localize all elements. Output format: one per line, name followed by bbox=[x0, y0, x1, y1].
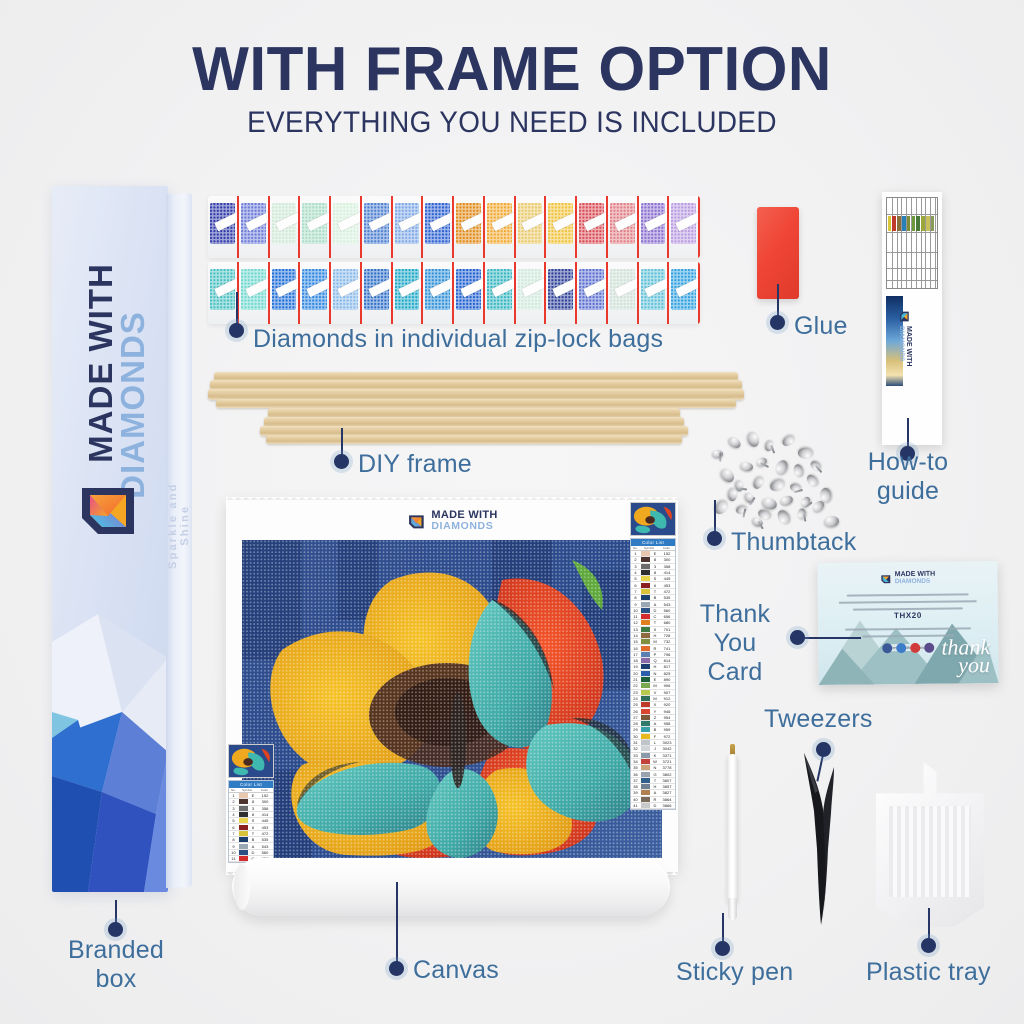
callout-label-tweezers: Tweezers bbox=[764, 705, 873, 734]
color-row-number: 2 bbox=[229, 799, 238, 804]
color-row-swatch bbox=[641, 658, 650, 663]
color-row-swatch bbox=[641, 677, 650, 682]
color-row-code: 817 bbox=[659, 664, 675, 669]
thank-you-line-1: Thank You bbox=[700, 600, 770, 657]
color-row-symbol: M bbox=[651, 639, 659, 644]
guide-brand-logo: MADE WITH DIAMONDS bbox=[898, 310, 912, 380]
color-list-column-header: Symbol bbox=[238, 788, 256, 792]
color-row-number: 13 bbox=[631, 627, 640, 632]
color-row-number: 17 bbox=[631, 652, 640, 657]
leader-line-glue bbox=[777, 284, 779, 316]
diamond-bag bbox=[516, 196, 547, 258]
color-row-swatch bbox=[641, 721, 650, 726]
callout-dot-plastic-tray bbox=[921, 938, 936, 953]
guide-table-row-divider bbox=[897, 198, 898, 288]
diamond-bag bbox=[516, 262, 547, 324]
brand-logo-icon bbox=[406, 512, 426, 530]
plastic-tray bbox=[876, 762, 984, 927]
guide-table-column-divider bbox=[887, 268, 937, 269]
color-row-symbol: 8 bbox=[249, 812, 257, 817]
color-row-code: 3042 bbox=[659, 746, 675, 751]
color-row-symbol: Q bbox=[651, 658, 659, 663]
color-row-code: 946 bbox=[659, 709, 675, 714]
box-polygon-pattern bbox=[52, 562, 168, 892]
callout-dot-branded-box bbox=[108, 922, 123, 937]
color-row-number: 19 bbox=[631, 664, 640, 669]
color-row-number: 35 bbox=[631, 765, 640, 770]
guide-color-swatch bbox=[888, 216, 892, 231]
color-list-column-header: Color bbox=[256, 788, 273, 792]
color-row-number: 40 bbox=[631, 797, 640, 802]
poster-root: WITH FRAME OPTION EVERYTHING YOU NEED IS… bbox=[0, 0, 1024, 1024]
color-row-swatch bbox=[641, 646, 650, 651]
callout-dot-canvas bbox=[389, 961, 404, 976]
color-row-symbol: T bbox=[651, 620, 659, 625]
color-row-symbol: M bbox=[651, 683, 659, 688]
color-row-number: 3 bbox=[229, 806, 238, 811]
color-row-number: 20 bbox=[631, 671, 640, 676]
color-row-swatch bbox=[641, 608, 650, 613]
instagram-icon bbox=[896, 643, 906, 653]
color-row-number: 11 bbox=[229, 856, 238, 861]
color-row-code: 732 bbox=[659, 639, 675, 644]
color-row-code: 728 bbox=[659, 633, 675, 638]
color-row-number: 4 bbox=[229, 812, 238, 817]
diamond-bag bbox=[208, 196, 239, 258]
color-row-number: 25 bbox=[631, 702, 640, 707]
color-row-swatch bbox=[641, 778, 650, 783]
color-row-symbol: 3 bbox=[249, 806, 257, 811]
color-row-code: 3857 bbox=[659, 784, 675, 789]
callout-dot-diy-frame bbox=[334, 454, 349, 469]
color-row-symbol: 8 bbox=[651, 570, 659, 575]
color-row-code: 543 bbox=[659, 602, 675, 607]
color-row-code: 972 bbox=[659, 734, 675, 739]
diamond-bag bbox=[300, 262, 331, 324]
diamond-dither-overlay bbox=[242, 540, 662, 858]
color-row-symbol: H bbox=[651, 633, 659, 638]
diamond-bag bbox=[669, 262, 700, 324]
diamond-bag bbox=[423, 196, 454, 258]
callout-dot-tweezers bbox=[816, 742, 831, 757]
diamond-bag bbox=[454, 262, 485, 324]
color-row-symbol: A bbox=[249, 844, 257, 849]
color-row-swatch bbox=[641, 765, 650, 770]
color-row-code: 656 bbox=[659, 614, 675, 619]
color-row-number: 26 bbox=[631, 709, 640, 714]
color-row-code: 3802 bbox=[659, 772, 675, 777]
color-row-symbol: E bbox=[651, 677, 659, 682]
color-row-swatch bbox=[641, 683, 650, 688]
color-row-code: 906 bbox=[659, 683, 675, 688]
canvas-thumbnail-left bbox=[228, 744, 274, 778]
color-row-swatch bbox=[641, 589, 650, 594]
color-row-swatch bbox=[641, 784, 650, 789]
color-row-number: 1 bbox=[229, 793, 238, 798]
thumbtack bbox=[769, 478, 787, 494]
guide-table-row-divider bbox=[916, 198, 917, 288]
color-row-swatch bbox=[641, 583, 650, 588]
color-row-symbol: A bbox=[651, 790, 659, 795]
callout-label-thank-you: Thank You Card bbox=[681, 600, 789, 687]
color-row-swatch bbox=[641, 627, 650, 632]
color-row-symbol: E bbox=[651, 551, 659, 556]
leader-line-thumbtack bbox=[714, 500, 716, 532]
color-row-number: 15 bbox=[631, 639, 640, 644]
diamond-bag bbox=[546, 262, 577, 324]
color-row-swatch bbox=[641, 620, 650, 625]
color-row-symbol: A bbox=[651, 602, 659, 607]
diamond-bag bbox=[362, 262, 393, 324]
color-row-swatch bbox=[641, 715, 650, 720]
color-row-swatch bbox=[641, 797, 650, 802]
color-row-number: 36 bbox=[631, 772, 640, 777]
color-row-symbol: V bbox=[651, 690, 659, 695]
callout-label-howto: How-to guide bbox=[858, 448, 958, 506]
color-row-symbol: B bbox=[651, 595, 659, 600]
tray-grooves bbox=[889, 806, 971, 897]
color-row-code: 3023 bbox=[659, 740, 675, 745]
color-list-column-header: No. bbox=[631, 546, 640, 550]
color-row-symbol: H bbox=[651, 664, 659, 669]
color-row-code: 445 bbox=[257, 818, 273, 823]
howto-line-2: guide bbox=[877, 477, 939, 505]
color-row-symbol: H bbox=[651, 784, 659, 789]
color-row-swatch bbox=[641, 557, 650, 562]
callout-dot-thank-you bbox=[790, 630, 805, 645]
color-row-swatch bbox=[239, 818, 248, 823]
color-row-swatch bbox=[641, 551, 650, 556]
diamond-bag bbox=[239, 262, 270, 324]
callout-label-thumbtack: Thumbtack bbox=[731, 528, 856, 557]
pen-body bbox=[727, 754, 738, 904]
thumbtack bbox=[718, 466, 736, 484]
color-row-symbol: F bbox=[651, 734, 659, 739]
color-row-swatch bbox=[239, 856, 248, 861]
color-row-code: 543 bbox=[257, 844, 273, 849]
diamond-bag bbox=[639, 196, 670, 258]
color-row-code: 3778 bbox=[659, 765, 675, 770]
color-row-number: 34 bbox=[631, 759, 640, 764]
color-row-swatch bbox=[239, 837, 248, 842]
color-row-code: 814 bbox=[659, 658, 675, 663]
color-row-number: 2 bbox=[631, 557, 640, 562]
color-row-code: 560 bbox=[257, 850, 273, 855]
color-row-code: 912 bbox=[659, 696, 675, 701]
sticky-pen bbox=[726, 742, 739, 920]
guide-table-column-divider bbox=[887, 232, 937, 233]
guide-table-row-divider bbox=[935, 198, 936, 288]
color-row-symbol: 0 bbox=[651, 627, 659, 632]
color-row-swatch bbox=[641, 595, 650, 600]
thumbtack bbox=[751, 475, 766, 491]
color-row-number: 8 bbox=[229, 837, 238, 842]
leader-line-howto bbox=[907, 418, 909, 448]
color-row-symbol: 3 bbox=[651, 564, 659, 569]
color-row-number: 9 bbox=[631, 602, 640, 607]
diamond-bag bbox=[393, 196, 424, 258]
color-row-symbol: M bbox=[651, 696, 659, 701]
guide-table-row-divider bbox=[930, 198, 931, 288]
color-list-row: 41D3866 bbox=[631, 803, 675, 809]
color-row-code: 741 bbox=[659, 646, 675, 651]
color-row-swatch bbox=[641, 727, 650, 732]
color-row-swatch bbox=[239, 850, 248, 855]
thumbtack bbox=[739, 461, 753, 472]
thumbtack bbox=[712, 450, 723, 458]
howto-line-1: How-to bbox=[868, 448, 948, 476]
color-row-code: 3866 bbox=[659, 803, 675, 808]
color-row-symbol: 6 bbox=[249, 825, 257, 830]
color-row-swatch bbox=[239, 799, 248, 804]
color-row-number: 31 bbox=[631, 740, 640, 745]
diamond-bag bbox=[454, 196, 485, 258]
guide-color-swatch bbox=[897, 216, 901, 231]
color-row-symbol: Y bbox=[651, 709, 659, 714]
color-row-code: 907 bbox=[659, 690, 675, 695]
tiktok-icon bbox=[924, 643, 934, 653]
color-row-symbol: N bbox=[651, 671, 659, 676]
color-row-swatch bbox=[239, 831, 248, 836]
diamond-bag bbox=[208, 262, 239, 324]
color-row-symbol: 6 bbox=[651, 583, 659, 588]
color-row-symbol: D bbox=[249, 850, 257, 855]
color-row-code: 358 bbox=[257, 806, 273, 811]
color-row-number: 21 bbox=[631, 677, 640, 682]
diamond-bag-row-top bbox=[208, 196, 700, 258]
leader-line-branded-box bbox=[115, 900, 117, 924]
color-row-code: 3371 bbox=[659, 753, 675, 758]
color-row-code: 453 bbox=[257, 825, 273, 830]
color-row-swatch bbox=[641, 564, 650, 569]
color-row-swatch bbox=[641, 652, 650, 657]
color-row-symbol: N bbox=[651, 765, 659, 770]
color-row-number: 38 bbox=[631, 784, 640, 789]
color-row-code: 414 bbox=[257, 812, 273, 817]
color-row-swatch bbox=[239, 793, 248, 798]
page-subtitle: EVERYTHING YOU NEED IS INCLUDED bbox=[36, 106, 988, 140]
branded-box-line-1: Branded bbox=[68, 936, 164, 964]
color-row-number: 27 bbox=[631, 715, 640, 720]
diamond-bag bbox=[485, 262, 516, 324]
guide-color-swatch bbox=[931, 216, 935, 231]
guide-color-swatch bbox=[902, 216, 906, 231]
callout-dot-glue bbox=[770, 315, 785, 330]
thumbtack bbox=[773, 458, 789, 476]
guide-color-swatch bbox=[916, 216, 920, 231]
canvas-sheet: MADE WITH DIAMONDS bbox=[226, 500, 678, 872]
callout-label-branded-box: Branded box bbox=[55, 936, 177, 994]
facebook-icon bbox=[882, 643, 892, 653]
diamond-bag bbox=[331, 196, 362, 258]
canvas-preview: MADE WITH DIAMONDS bbox=[226, 500, 678, 920]
color-row-symbol: E bbox=[249, 793, 257, 798]
guide-color-swatch bbox=[907, 216, 911, 231]
color-row-code: 890 bbox=[659, 677, 675, 682]
color-row-symbol: K bbox=[651, 753, 659, 758]
color-row-code: 3807 bbox=[659, 778, 675, 783]
callout-label-diamonds: Diamonds in individual zip-lock bags bbox=[253, 325, 663, 354]
thumbtack bbox=[805, 473, 820, 489]
color-row-number: 41 bbox=[631, 803, 640, 808]
guide-table-row-divider bbox=[906, 198, 907, 288]
thumbtack-pin bbox=[803, 512, 807, 521]
color-row-swatch bbox=[641, 639, 650, 644]
color-row-symbol: X bbox=[651, 702, 659, 707]
color-row-code: 472 bbox=[659, 589, 675, 594]
guide-color-swatch bbox=[892, 216, 896, 231]
box-side-panel: Sparkle and Shine bbox=[166, 193, 192, 888]
tweezers bbox=[800, 745, 842, 927]
color-row-number: 28 bbox=[631, 721, 640, 726]
color-row-swatch bbox=[641, 803, 650, 808]
diamond-bag bbox=[423, 262, 454, 324]
guide-table-column-divider bbox=[887, 280, 937, 281]
guide-table-row-divider bbox=[921, 198, 922, 288]
callout-dot-diamonds bbox=[229, 323, 244, 338]
color-row-symbol: W bbox=[651, 759, 659, 764]
color-row-swatch bbox=[239, 844, 248, 849]
callout-label-glue: Glue bbox=[794, 312, 848, 341]
color-row-code: 3864 bbox=[659, 797, 675, 802]
color-row-swatch bbox=[239, 825, 248, 830]
box-front-panel: MADE WITH DIAMONDS bbox=[52, 186, 168, 892]
canvas-rolled-bottom bbox=[232, 858, 670, 916]
diamond-bag bbox=[639, 262, 670, 324]
diamond-bag bbox=[393, 262, 424, 324]
thumbtack bbox=[775, 508, 792, 526]
color-row-swatch bbox=[641, 746, 650, 751]
card-thank-you-script: thank you bbox=[941, 638, 990, 676]
card-social-icons bbox=[882, 643, 934, 654]
thank-you-line-2: Card bbox=[708, 658, 763, 686]
color-list-column-header: No. bbox=[229, 788, 238, 792]
color-row-code: 472 bbox=[257, 831, 273, 836]
color-row-swatch bbox=[641, 570, 650, 575]
color-row-swatch bbox=[641, 759, 650, 764]
color-row-number: 7 bbox=[631, 589, 640, 594]
guide-table-row-divider bbox=[901, 198, 902, 288]
thumbtack bbox=[746, 431, 761, 448]
guide-brand-line2: DIAMONDS bbox=[898, 326, 905, 366]
color-row-code: 300 bbox=[257, 799, 273, 804]
color-row-code: 959 bbox=[659, 727, 675, 732]
color-row-swatch bbox=[641, 690, 650, 695]
color-row-code: 3827 bbox=[659, 790, 675, 795]
color-row-swatch bbox=[641, 772, 650, 777]
diamond-bag bbox=[270, 196, 301, 258]
color-row-symbol: S bbox=[249, 818, 257, 823]
leader-line-canvas bbox=[396, 882, 398, 964]
color-list-title: Color List bbox=[229, 781, 273, 788]
color-row-swatch bbox=[641, 709, 650, 714]
diamond-bag-row-bottom bbox=[208, 262, 700, 324]
canvas-color-list-left: Color List No.SymbolColor1E1522830033358… bbox=[228, 780, 274, 863]
color-row-swatch bbox=[641, 633, 650, 638]
color-list-column-header: Symbol bbox=[640, 546, 658, 550]
callout-label-canvas: Canvas bbox=[413, 956, 499, 985]
color-row-code: 445 bbox=[659, 576, 675, 581]
leader-line-plastic-tray bbox=[928, 908, 930, 940]
color-row-symbol: L bbox=[651, 740, 659, 745]
color-row-symbol: P bbox=[651, 652, 659, 657]
diy-frame-sticks bbox=[208, 372, 748, 452]
color-row-symbol: R bbox=[651, 646, 659, 651]
color-row-number: 5 bbox=[631, 576, 640, 581]
color-row-number: 10 bbox=[229, 850, 238, 855]
canvas-color-list-right: Color List No.SymbolColor1E1522830033358… bbox=[630, 538, 676, 810]
color-row-number: 14 bbox=[631, 633, 640, 638]
color-row-number: 24 bbox=[631, 696, 640, 701]
color-row-symbol: B bbox=[249, 837, 257, 842]
guide-color-swatch bbox=[921, 216, 925, 231]
color-row-swatch bbox=[239, 812, 248, 817]
leader-line-diamonds bbox=[236, 292, 238, 324]
diamond-bag bbox=[239, 196, 270, 258]
color-row-code: 152 bbox=[659, 551, 675, 556]
color-row-number: 6 bbox=[631, 583, 640, 588]
color-row-symbol: 8 bbox=[249, 799, 257, 804]
color-row-number: 23 bbox=[631, 690, 640, 695]
color-row-symbol: J bbox=[651, 746, 659, 751]
guide-table-column-divider bbox=[887, 214, 937, 215]
thumbtack bbox=[726, 435, 742, 450]
color-row-symbol: C bbox=[651, 614, 659, 619]
color-row-code: 680 bbox=[659, 620, 675, 625]
color-row-number: 37 bbox=[631, 778, 640, 783]
callout-label-diy-frame: DIY frame bbox=[358, 450, 472, 479]
color-row-symbol: R bbox=[651, 797, 659, 802]
color-row-swatch bbox=[641, 576, 650, 581]
brand-logo-icon bbox=[76, 476, 140, 540]
color-row-number: 6 bbox=[229, 825, 238, 830]
thumbtack bbox=[779, 494, 794, 507]
color-row-number: 4 bbox=[631, 570, 640, 575]
color-row-swatch bbox=[641, 740, 650, 745]
color-row-number: 22 bbox=[631, 683, 640, 688]
diamond-bag bbox=[577, 262, 608, 324]
color-row-symbol: D bbox=[651, 608, 659, 613]
guide-color-table bbox=[886, 197, 938, 289]
color-row-number: 30 bbox=[631, 734, 640, 739]
color-row-swatch bbox=[641, 664, 650, 669]
canvas-brand-line2: DIAMONDS bbox=[431, 521, 497, 532]
diamond-bag bbox=[577, 196, 608, 258]
color-row-symbol: B bbox=[651, 727, 659, 732]
color-row-swatch bbox=[239, 806, 248, 811]
canvas-thumbnail-right bbox=[630, 502, 676, 536]
color-row-swatch bbox=[641, 790, 650, 795]
leader-line-sticky-pen bbox=[722, 913, 724, 943]
diamond-bag bbox=[608, 262, 639, 324]
color-row-symbol: G bbox=[651, 772, 659, 777]
color-row-symbol: Z bbox=[651, 715, 659, 720]
callout-label-plastic-tray: Plastic tray bbox=[866, 958, 991, 987]
color-row-number: 29 bbox=[631, 727, 640, 732]
guide-table-column-divider bbox=[887, 252, 937, 253]
guide-table-row-divider bbox=[925, 198, 926, 288]
color-row-code: 414 bbox=[659, 570, 675, 575]
color-row-number: 5 bbox=[229, 818, 238, 823]
guide-table-row-divider bbox=[892, 198, 893, 288]
thank-you-card: MADE WITH DIAMONDS THX20 @madewithdiamon… bbox=[817, 561, 998, 685]
diamond-bag bbox=[485, 196, 516, 258]
color-list-column-header: Color bbox=[658, 546, 675, 550]
color-row-number: 3 bbox=[631, 564, 640, 569]
guide-brand-line1: MADE WITH bbox=[905, 326, 912, 366]
color-row-code: 3721 bbox=[659, 759, 675, 764]
leader-line-diy-frame bbox=[341, 428, 343, 456]
